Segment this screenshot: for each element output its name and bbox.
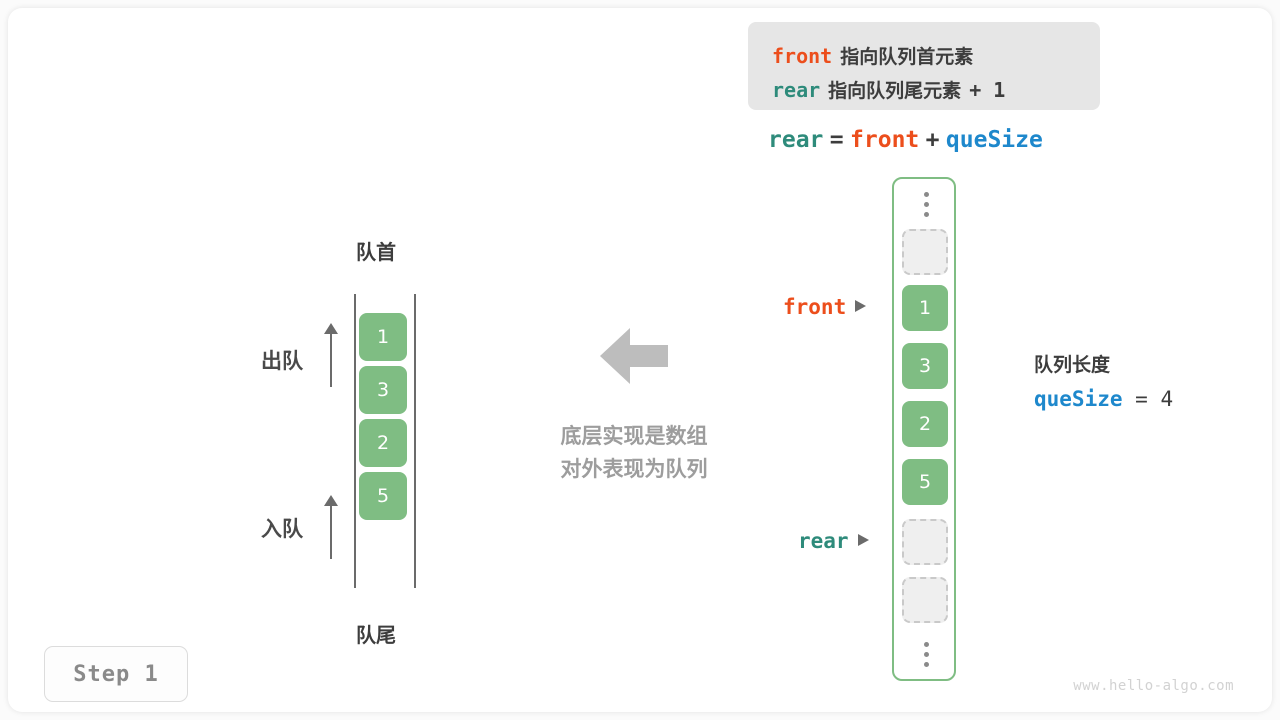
array-cell-filled-3: 2 xyxy=(902,401,948,447)
center-note-line-1: 底层实现是数组 xyxy=(537,420,731,453)
queue-head-label: 队首 xyxy=(356,236,396,265)
queue-cell-value: 1 xyxy=(377,326,389,348)
center-note-line-2: 对外表现为队列 xyxy=(537,453,731,486)
formula-plus: + xyxy=(926,127,940,153)
queue-cell-value: 3 xyxy=(377,379,389,401)
enqueue-arrow-icon xyxy=(324,495,338,559)
dequeue-label: 出队 xyxy=(261,345,303,375)
dequeue-arrow-icon xyxy=(324,323,338,387)
queue-length-annotation: 队列长度 queSize = 4 xyxy=(1034,350,1173,411)
queue-cell-value: 2 xyxy=(377,432,389,454)
legend-suffix-rear: + 1 xyxy=(969,78,1005,102)
array-cell-value: 1 xyxy=(919,297,931,319)
quesize-value: 4 xyxy=(1160,387,1173,411)
front-pointer-label: front xyxy=(783,295,866,319)
diagram-canvas: front指向队列首元素 rear指向队列尾元素+ 1 rear = front… xyxy=(0,0,1280,720)
array-cell-value: 2 xyxy=(919,413,931,435)
queue-cell-0: 1 xyxy=(359,313,407,361)
quesize-var-name: queSize xyxy=(1034,387,1123,411)
queue-length-value-line: queSize = 4 xyxy=(1034,387,1173,411)
legend-line-front: front指向队列首元素 xyxy=(772,42,973,69)
array-container: 1 3 2 5 xyxy=(892,177,956,681)
rear-pointer-text: rear xyxy=(798,529,849,553)
formula-equals: = xyxy=(830,127,844,153)
center-note: 底层实现是数组 对外表现为队列 xyxy=(537,420,731,486)
pointer-legend-box: front指向队列首元素 rear指向队列尾元素+ 1 xyxy=(748,22,1100,110)
array-cell-empty-0 xyxy=(902,229,948,275)
formula-operand-front: front xyxy=(850,127,919,153)
queue-cell-3: 5 xyxy=(359,472,407,520)
queue-cell-1: 3 xyxy=(359,366,407,414)
bottom-ellipsis-icon xyxy=(894,631,958,677)
array-cell-filled-4: 5 xyxy=(902,459,948,505)
quesize-equals: = xyxy=(1135,387,1148,411)
rear-formula: rear = front + queSize xyxy=(768,126,1043,153)
front-arrow-icon xyxy=(855,300,866,312)
enqueue-label: 入队 xyxy=(261,513,303,543)
queue-tail-label: 队尾 xyxy=(356,619,396,648)
rear-pointer-label: rear xyxy=(798,529,869,553)
array-cell-empty-5 xyxy=(902,519,948,565)
legend-line-rear: rear指向队列尾元素+ 1 xyxy=(772,76,1005,103)
mapping-arrow-icon xyxy=(600,328,668,384)
queue-cell-value: 5 xyxy=(377,485,389,507)
queue-right-rail xyxy=(414,294,416,588)
array-cell-value: 5 xyxy=(919,471,931,493)
rear-arrow-icon xyxy=(858,534,869,546)
site-watermark: www.hello-algo.com xyxy=(1073,678,1234,694)
queue-length-label: 队列长度 xyxy=(1034,350,1173,377)
array-cell-filled-2: 3 xyxy=(902,343,948,389)
legend-desc-rear: 指向队列尾元素 xyxy=(828,80,961,102)
legend-keyword-front: front xyxy=(772,44,832,68)
formula-operand-quesize: queSize xyxy=(946,127,1043,153)
legend-desc-front: 指向队列首元素 xyxy=(840,46,973,68)
front-pointer-text: front xyxy=(783,295,846,319)
legend-keyword-rear: rear xyxy=(772,78,820,102)
step-badge: Step 1 xyxy=(44,646,188,702)
queue-cell-2: 2 xyxy=(359,419,407,467)
array-cell-filled-1: 1 xyxy=(902,285,948,331)
queue-left-rail xyxy=(354,294,356,588)
formula-lhs-rear: rear xyxy=(768,127,823,153)
array-cell-value: 3 xyxy=(919,355,931,377)
top-ellipsis-icon xyxy=(894,181,958,227)
diagram-card: front指向队列首元素 rear指向队列尾元素+ 1 rear = front… xyxy=(8,8,1272,712)
array-cell-empty-6 xyxy=(902,577,948,623)
